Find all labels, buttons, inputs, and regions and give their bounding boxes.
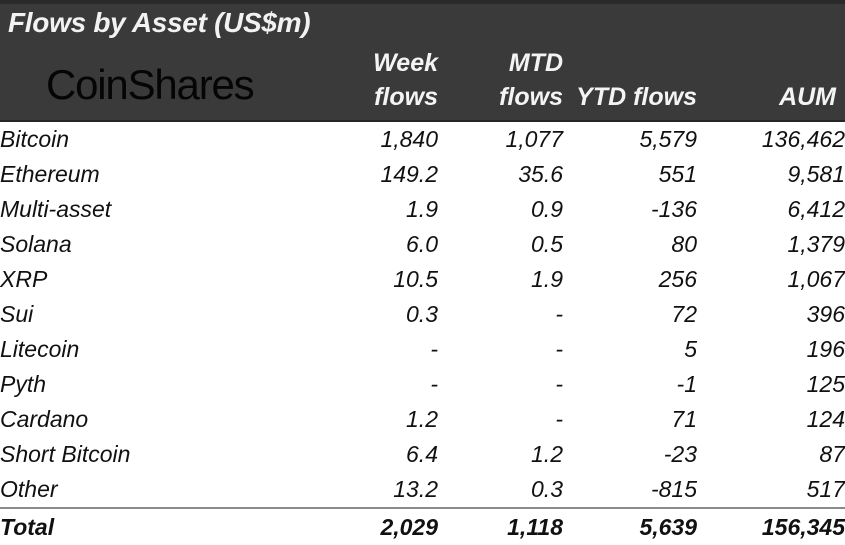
column-header-aum: AUM: [779, 80, 836, 114]
table-row: Litecoin--5196: [0, 332, 845, 367]
column-header-ytd-line: YTD flows: [576, 80, 697, 114]
column-header-week-flows: Week flows: [373, 46, 438, 114]
cell-asset-name: Cardano: [0, 402, 330, 437]
cell-mtd: -: [438, 297, 563, 332]
cell-week: 1.2: [330, 402, 438, 437]
cell-mtd: 1.9: [438, 262, 563, 297]
cell-asset-name: Ethereum: [0, 157, 330, 192]
cell-week: 6.4: [330, 437, 438, 472]
cell-asset-name: Pyth: [0, 367, 330, 402]
cell-mtd: 0.9: [438, 192, 563, 227]
cell-asset-name: Multi-asset: [0, 192, 330, 227]
flows-table: Bitcoin1,8401,0775,579136,462Ethereum149…: [0, 122, 845, 545]
cell-ytd: 5,579: [563, 122, 697, 157]
cell-ytd: 72: [563, 297, 697, 332]
table-row: Short Bitcoin6.41.2-2387: [0, 437, 845, 472]
cell-ytd: 80: [563, 227, 697, 262]
cell-ytd: -1: [563, 367, 697, 402]
cell-ytd: -136: [563, 192, 697, 227]
table-body-area: Bitcoin1,8401,0775,579136,462Ethereum149…: [0, 122, 845, 545]
table-row: Ethereum149.235.65519,581: [0, 157, 845, 192]
cell-mtd: 1.2: [438, 437, 563, 472]
cell-asset-name: Short Bitcoin: [0, 437, 330, 472]
cell-aum: 6,412: [697, 192, 845, 227]
coinshares-logo: CoinShares: [46, 64, 253, 106]
table-row-total: Total2,0291,1185,639156,345: [0, 508, 845, 545]
page-title: Flows by Asset (US$m): [8, 7, 310, 39]
column-header-mtd-flows: MTD flows: [499, 46, 563, 114]
cell-aum: 517: [697, 472, 845, 508]
table-row: XRP10.51.92561,067: [0, 262, 845, 297]
cell-ytd: 5: [563, 332, 697, 367]
cell-mtd: 0.5: [438, 227, 563, 262]
table-row: Sui0.3-72396: [0, 297, 845, 332]
cell-week: 1.9: [330, 192, 438, 227]
cell-asset-name: Other: [0, 472, 330, 508]
cell-aum: 136,462: [697, 122, 845, 157]
cell-week: 149.2: [330, 157, 438, 192]
cell-week: 6.0: [330, 227, 438, 262]
cell-ytd: 5,639: [563, 508, 697, 545]
cell-mtd: 0.3: [438, 472, 563, 508]
cell-week: 0.3: [330, 297, 438, 332]
table-row: Other13.20.3-815517: [0, 472, 845, 508]
cell-ytd: 551: [563, 157, 697, 192]
cell-aum: 1,379: [697, 227, 845, 262]
flows-by-asset-table-card: Flows by Asset (US$m) CoinShares Week fl…: [0, 0, 845, 542]
cell-aum: 9,581: [697, 157, 845, 192]
cell-asset-name: Total: [0, 508, 330, 545]
table-row: Pyth---1125: [0, 367, 845, 402]
cell-mtd: 1,077: [438, 122, 563, 157]
cell-ytd: 71: [563, 402, 697, 437]
cell-asset-name: Sui: [0, 297, 330, 332]
table-row: Bitcoin1,8401,0775,579136,462: [0, 122, 845, 157]
cell-asset-name: XRP: [0, 262, 330, 297]
column-header-mtd-line2: flows: [499, 80, 563, 114]
table-row: Multi-asset1.90.9-1366,412: [0, 192, 845, 227]
cell-week: 13.2: [330, 472, 438, 508]
cell-aum: 124: [697, 402, 845, 437]
table-row: Cardano1.2-71124: [0, 402, 845, 437]
column-header-week-line2: flows: [373, 80, 438, 114]
cell-mtd: -: [438, 332, 563, 367]
column-header-aum-line: AUM: [779, 80, 836, 114]
cell-asset-name: Solana: [0, 227, 330, 262]
cell-week: -: [330, 332, 438, 367]
cell-week: -: [330, 367, 438, 402]
cell-aum: 125: [697, 367, 845, 402]
cell-mtd: -: [438, 402, 563, 437]
cell-mtd: -: [438, 367, 563, 402]
cell-asset-name: Litecoin: [0, 332, 330, 367]
table-header-band: Flows by Asset (US$m) CoinShares Week fl…: [0, 0, 845, 122]
cell-ytd: -23: [563, 437, 697, 472]
cell-week: 2,029: [330, 508, 438, 545]
cell-aum: 396: [697, 297, 845, 332]
table-row: Solana6.00.5801,379: [0, 227, 845, 262]
cell-week: 10.5: [330, 262, 438, 297]
column-header-week-line1: Week: [373, 46, 438, 80]
cell-mtd: 1,118: [438, 508, 563, 545]
cell-aum: 156,345: [697, 508, 845, 545]
cell-ytd: -815: [563, 472, 697, 508]
cell-aum: 87: [697, 437, 845, 472]
cell-week: 1,840: [330, 122, 438, 157]
column-header-ytd-flows: YTD flows: [576, 80, 697, 114]
cell-ytd: 256: [563, 262, 697, 297]
column-header-mtd-line1: MTD: [499, 46, 563, 80]
cell-asset-name: Bitcoin: [0, 122, 330, 157]
cell-aum: 196: [697, 332, 845, 367]
cell-aum: 1,067: [697, 262, 845, 297]
cell-mtd: 35.6: [438, 157, 563, 192]
